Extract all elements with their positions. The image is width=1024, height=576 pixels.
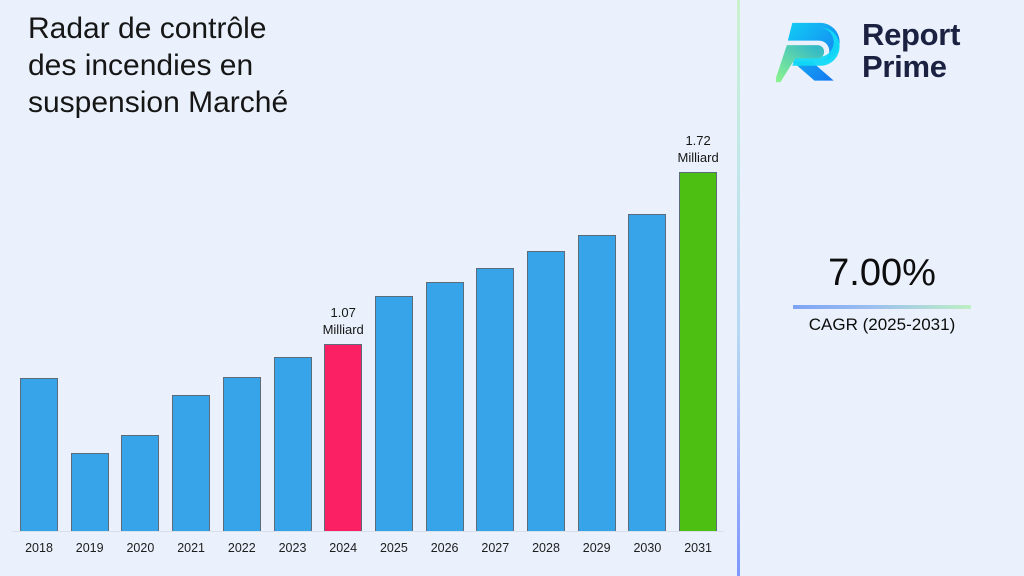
x-axis-tick-2028: 2028: [520, 541, 572, 555]
bar-value-label-2031: 1.72 Milliard: [656, 132, 740, 166]
bar-2023[interactable]: [274, 357, 312, 531]
bar-group-2030: [628, 154, 666, 531]
bar-group-2028: [527, 191, 565, 531]
bar-2030[interactable]: [628, 214, 666, 531]
x-axis-line: [12, 531, 724, 532]
bar-2024[interactable]: [324, 344, 362, 531]
x-axis-tick-2024: 2024: [317, 541, 369, 555]
cagr-value: 7.00%: [740, 252, 1024, 296]
bar-group-2025: [375, 236, 413, 531]
brand-panel: Report Prime 7.00% CAGR (2025-2031): [740, 0, 1024, 576]
x-axis-tick-2029: 2029: [571, 541, 623, 555]
x-axis-tick-2022: 2022: [216, 541, 268, 555]
x-axis-tick-2031: 2031: [672, 541, 724, 555]
bar-2025[interactable]: [375, 296, 413, 531]
cagr-divider: [793, 305, 971, 309]
bar-group-2019: [71, 393, 109, 531]
bar-group-2022: [223, 317, 261, 531]
bar-2031[interactable]: [679, 172, 717, 531]
bar-group-2020: [121, 375, 159, 531]
bar-group-2031: 1.72 Milliard: [679, 112, 717, 531]
report-prime-logo: Report Prime: [776, 14, 960, 88]
x-axis-tick-2019: 2019: [64, 541, 116, 555]
bar-chart-plot-area: 2018201920202021202220231.07 Milliard202…: [0, 0, 738, 576]
bar-2020[interactable]: [121, 435, 159, 531]
x-axis-tick-2027: 2027: [469, 541, 521, 555]
cagr-caption: CAGR (2025-2031): [740, 315, 1024, 335]
chart-panel: Radar de contrôle des incendies en suspe…: [0, 0, 738, 576]
bar-group-2024: 1.07 Milliard: [324, 284, 362, 531]
x-axis-tick-2025: 2025: [368, 541, 420, 555]
bar-group-2029: [578, 175, 616, 531]
x-axis-tick-2026: 2026: [419, 541, 471, 555]
cagr-block: 7.00% CAGR (2025-2031): [740, 252, 1024, 335]
x-axis-tick-2030: 2030: [621, 541, 673, 555]
bar-2019[interactable]: [71, 453, 109, 531]
bar-group-2021: [172, 335, 210, 531]
bar-2026[interactable]: [426, 282, 464, 531]
bar-2027[interactable]: [476, 268, 514, 531]
x-axis-tick-2020: 2020: [114, 541, 166, 555]
x-axis-tick-2018: 2018: [13, 541, 65, 555]
bar-value-label-2024: 1.07 Milliard: [301, 304, 385, 338]
bar-2018[interactable]: [20, 378, 58, 531]
bar-2029[interactable]: [578, 235, 616, 531]
x-axis-tick-2021: 2021: [165, 541, 217, 555]
bar-group-2027: [476, 208, 514, 531]
x-axis-tick-2023: 2023: [267, 541, 319, 555]
bar-2022[interactable]: [223, 377, 261, 531]
bar-2028[interactable]: [527, 251, 565, 531]
bar-2021[interactable]: [172, 395, 210, 531]
report-prime-r-logo-icon: [776, 14, 850, 88]
bar-group-2026: [426, 222, 464, 531]
brand-name: Report Prime: [862, 19, 960, 83]
bar-group-2018: [20, 318, 58, 531]
